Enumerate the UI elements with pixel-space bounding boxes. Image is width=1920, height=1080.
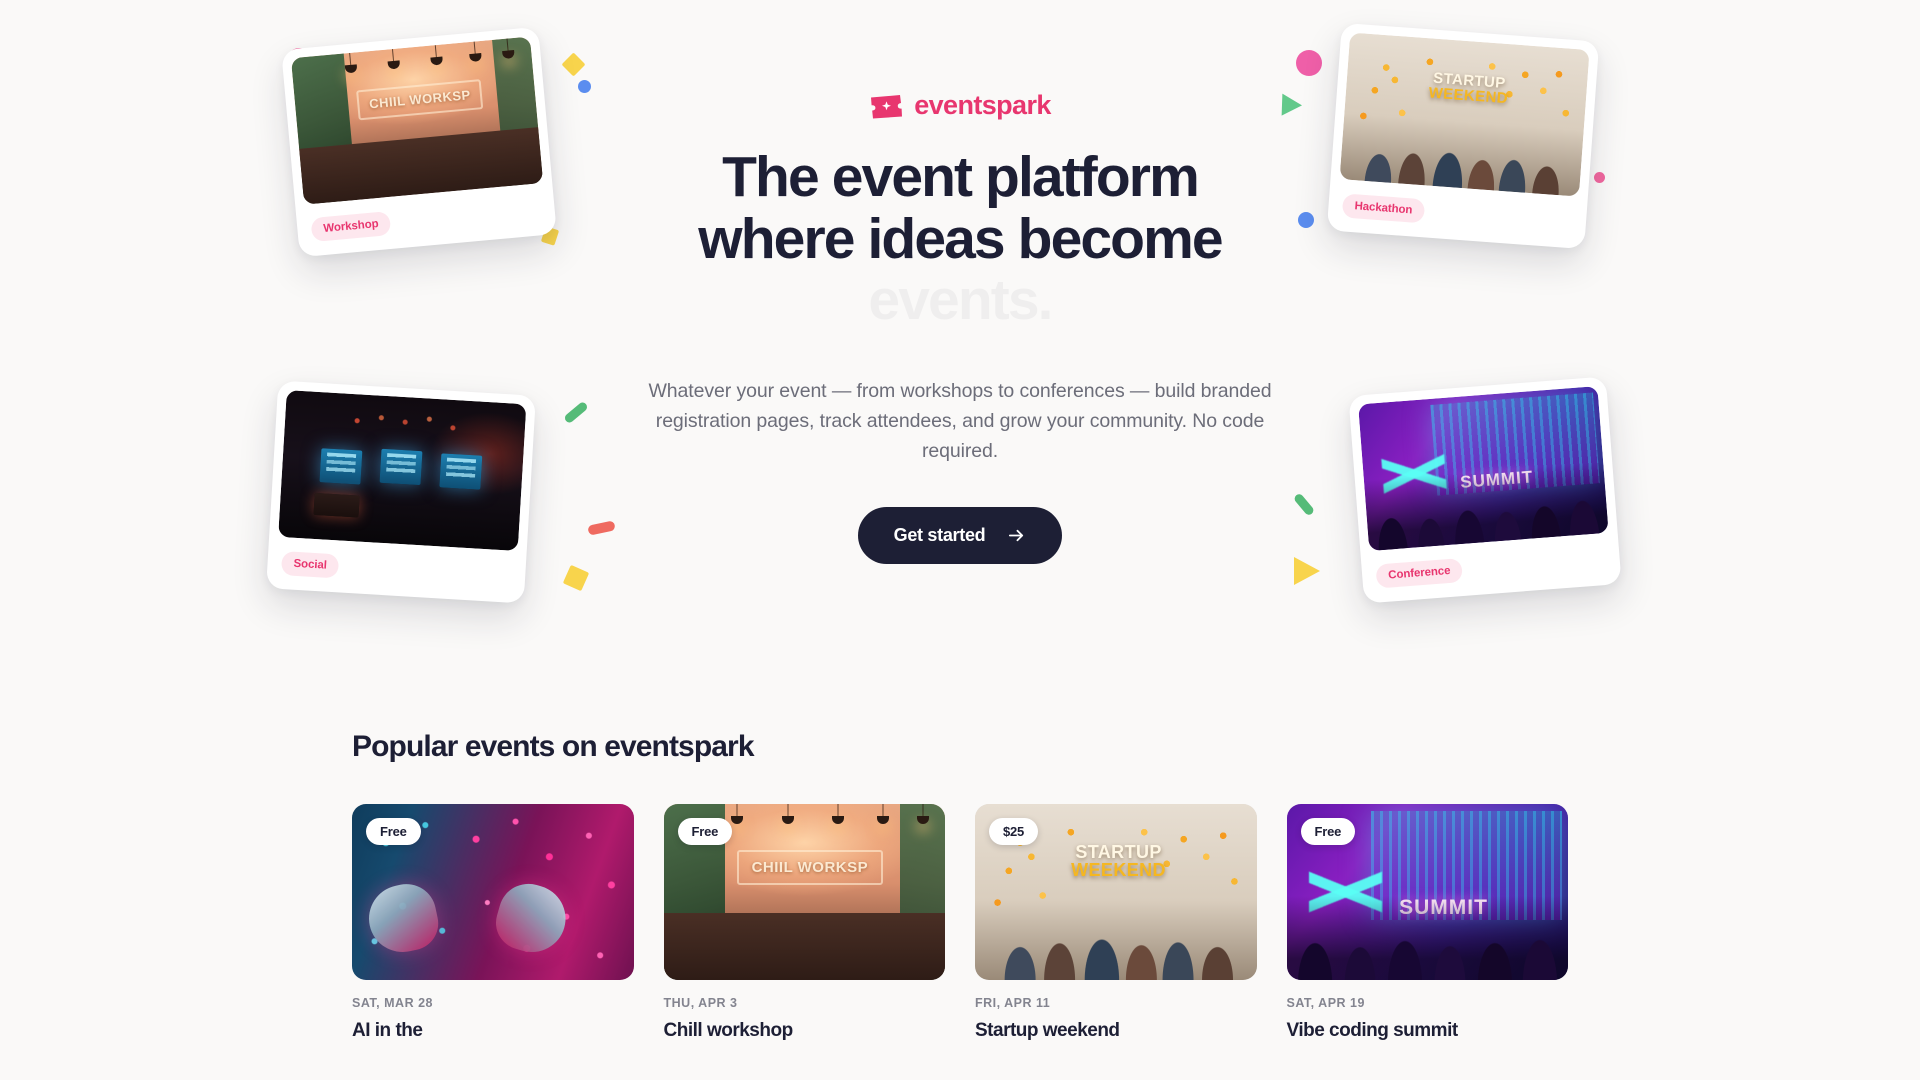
green-bar-icon bbox=[563, 401, 589, 425]
arrow-right-icon bbox=[1007, 526, 1026, 545]
event-date: FRI, APR 11 bbox=[975, 996, 1257, 1010]
floating-card-image: STARTUP WEEKEND bbox=[1340, 32, 1590, 196]
popular-events-section: Popular events on eventspark Free SAT, M… bbox=[0, 730, 1920, 1043]
green-triangle-icon bbox=[1282, 94, 1303, 117]
floating-card-image: CHIIL WORKSP bbox=[291, 37, 543, 205]
event-card-image: Free bbox=[352, 804, 634, 980]
events-grid: Free SAT, MAR 28 AI in the Free bbox=[352, 804, 1568, 1043]
ticket-sparkle-icon bbox=[869, 93, 903, 119]
event-title: Vibe coding summit bbox=[1287, 1019, 1569, 1043]
hero-title-line-1: The event platform bbox=[640, 147, 1280, 209]
card-chip-hackathon: Hackathon bbox=[1342, 193, 1425, 223]
event-title: Chill workshop bbox=[664, 1019, 946, 1043]
get-started-label: Get started bbox=[894, 525, 986, 546]
price-badge: $25 bbox=[989, 818, 1038, 845]
photo-sign-text: STARTUP WEEKEND bbox=[1054, 843, 1183, 879]
event-title: AI in the bbox=[352, 1019, 634, 1043]
hero-title-line-2: where ideas become bbox=[640, 209, 1280, 271]
hero-content: eventspark The event platform where idea… bbox=[640, 92, 1280, 564]
event-card[interactable]: Free SUMMIT SAT, APR 19 Vibe coding summ… bbox=[1287, 804, 1569, 1043]
page-title: The event platform where ideas become ev… bbox=[640, 147, 1280, 332]
price-badge: Free bbox=[678, 818, 733, 845]
popular-events-heading: Popular events on eventspark bbox=[352, 730, 1568, 764]
floating-card-image: SUMMIT bbox=[1358, 386, 1609, 551]
hero-title-line-3: events. bbox=[640, 270, 1280, 332]
yellow-square-icon bbox=[563, 565, 589, 591]
get-started-button[interactable]: Get started bbox=[858, 507, 1063, 564]
event-date: SAT, MAR 28 bbox=[352, 996, 634, 1010]
event-card-image: Free CHIIL WORKSP bbox=[664, 804, 946, 980]
yellow-triangle-icon bbox=[1294, 557, 1320, 585]
hero-section: CHIIL WORKSP Workshop STARTUP WEEKEND bbox=[0, 0, 1920, 700]
card-chip-social: Social bbox=[281, 551, 340, 578]
event-card[interactable]: Free CHIIL WORKSP THU, APR 3 Chill work bbox=[664, 804, 946, 1043]
event-card[interactable]: $25 STARTUP WEEKEND FRI, APR 11 Startup … bbox=[975, 804, 1257, 1043]
photo-sign-text: CHIIL WORKSP bbox=[737, 850, 883, 885]
blue-circle-icon bbox=[578, 80, 591, 93]
pink-dot-icon bbox=[1594, 172, 1605, 183]
magenta-circle-icon bbox=[1296, 50, 1322, 76]
card-chip-workshop: Workshop bbox=[310, 211, 391, 242]
floating-card-conference[interactable]: SUMMIT Conference bbox=[1348, 376, 1621, 603]
green-bar-icon bbox=[1293, 492, 1315, 516]
floating-card-hackathon[interactable]: STARTUP WEEKEND Hackathon bbox=[1327, 23, 1600, 249]
landing-page: CHIIL WORKSP Workshop STARTUP WEEKEND bbox=[0, 0, 1920, 1080]
brand-name: eventspark bbox=[914, 92, 1051, 119]
event-date: THU, APR 3 bbox=[664, 996, 946, 1010]
yellow-diamond-icon bbox=[561, 52, 585, 76]
floating-card-workshop[interactable]: CHIIL WORKSP Workshop bbox=[281, 27, 557, 258]
card-chip-conference: Conference bbox=[1375, 558, 1463, 589]
event-title: Startup weekend bbox=[975, 1019, 1257, 1043]
price-badge: Free bbox=[1301, 818, 1356, 845]
price-badge: Free bbox=[366, 818, 421, 845]
floating-card-social[interactable]: Social bbox=[266, 381, 536, 604]
hero-subtitle: Whatever your event — from workshops to … bbox=[640, 376, 1280, 467]
event-card-image: Free SUMMIT bbox=[1287, 804, 1569, 980]
photo-sign-text: CHIIL WORKSP bbox=[356, 79, 483, 120]
event-card-image: $25 STARTUP WEEKEND bbox=[975, 804, 1257, 980]
floating-card-image bbox=[278, 390, 526, 551]
red-bar-icon bbox=[587, 520, 615, 535]
brand-logo[interactable]: eventspark bbox=[640, 92, 1280, 119]
event-date: SAT, APR 19 bbox=[1287, 996, 1569, 1010]
blue-circle-icon bbox=[1298, 212, 1314, 228]
event-card[interactable]: Free SAT, MAR 28 AI in the bbox=[352, 804, 634, 1043]
